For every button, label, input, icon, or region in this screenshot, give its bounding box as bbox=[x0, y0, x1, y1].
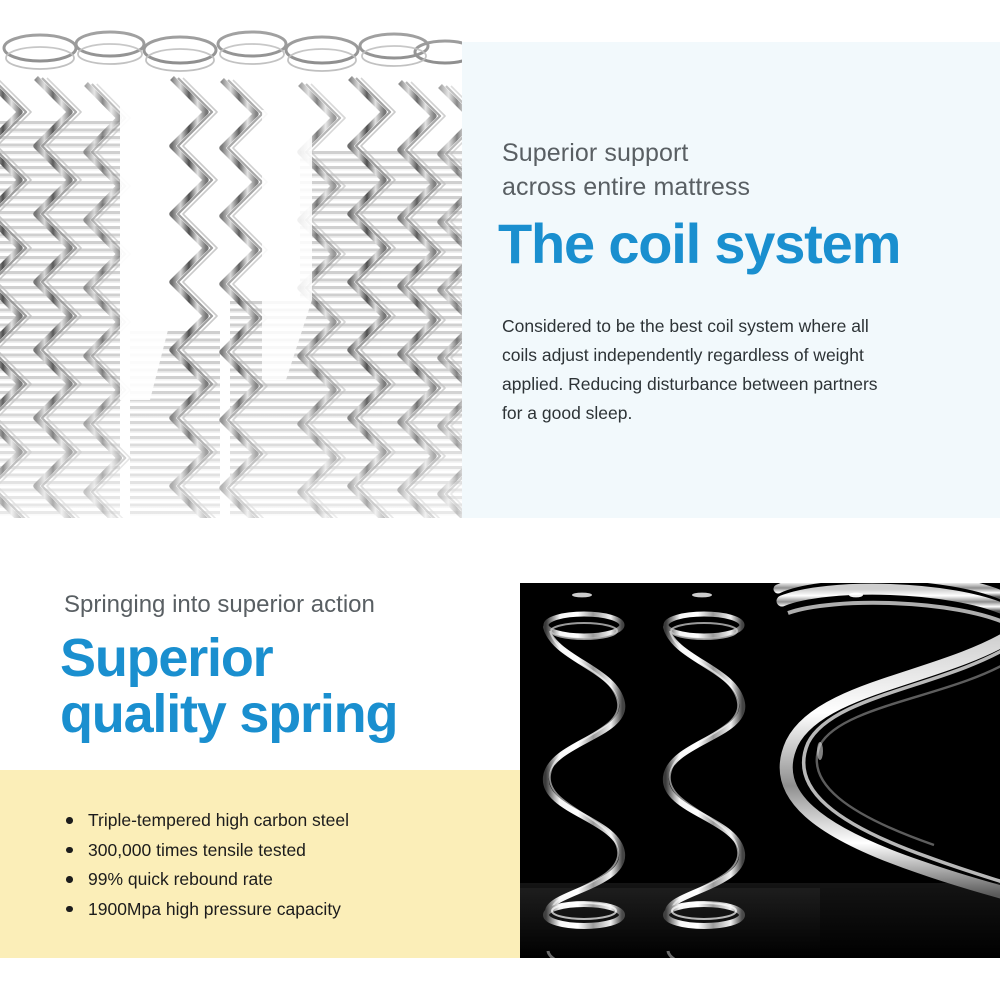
coil-closeup-photo bbox=[0, 0, 462, 518]
quality-spring-headline-line2: quality spring bbox=[60, 686, 510, 742]
coil-system-eyebrow-line2: across entire mattress bbox=[502, 170, 932, 204]
quality-spring-headline: Superior quality spring bbox=[60, 630, 510, 742]
spring-photo-dark bbox=[520, 583, 1000, 958]
quality-spring-headline-line1: Superior bbox=[60, 628, 272, 688]
coil-system-panel bbox=[462, 42, 1000, 518]
coil-system-eyebrow-line1: Superior support bbox=[502, 139, 688, 167]
top-white-strip bbox=[462, 0, 1000, 42]
list-item: 300,000 times tensile tested bbox=[66, 836, 496, 866]
features-list: Triple-tempered high carbon steel 300,00… bbox=[66, 806, 496, 924]
list-item: 99% quick rebound rate bbox=[66, 865, 496, 895]
coil-system-eyebrow: Superior support across entire mattress bbox=[502, 136, 932, 204]
coil-system-body: Considered to be the best coil system wh… bbox=[502, 312, 902, 428]
quality-spring-eyebrow: Springing into superior action bbox=[64, 589, 504, 621]
list-item: 1900Mpa high pressure capacity bbox=[66, 895, 496, 925]
product-feature-page: Superior support across entire mattress … bbox=[0, 0, 1000, 1000]
bottom-white-strip bbox=[0, 958, 1000, 1000]
list-item: Triple-tempered high carbon steel bbox=[66, 806, 496, 836]
coil-system-headline: The coil system bbox=[498, 214, 968, 274]
